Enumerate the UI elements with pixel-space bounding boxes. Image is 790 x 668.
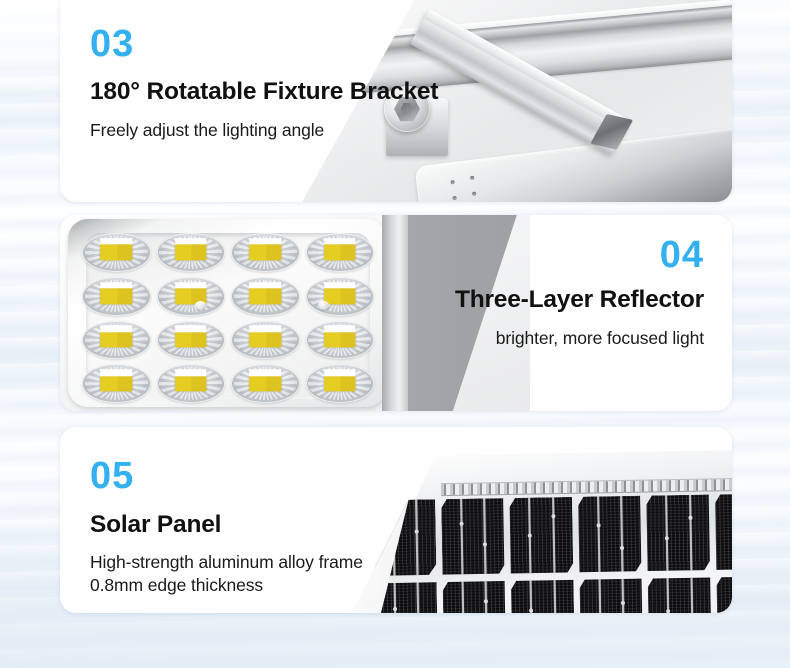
led-lens <box>82 364 151 403</box>
bracket-base-plate <box>414 127 732 202</box>
feature-number-03: 03 <box>90 25 134 63</box>
feature-title-03: 180° Rotatable Fixture Bracket <box>90 78 438 105</box>
feature-number-05: 05 <box>90 457 134 495</box>
feature-card-04: 04 Three-Layer Reflector brighter, more … <box>60 215 732 411</box>
feature-card-05: 05 Solar Panel High-strength aluminum al… <box>60 427 732 613</box>
housing-screw <box>318 301 329 310</box>
solar-cell <box>443 581 507 613</box>
led-lens <box>306 364 375 403</box>
feature-subtitle-03: Freely adjust the lighting angle <box>90 119 324 142</box>
feature-number-04: 04 <box>660 236 704 274</box>
led-lens <box>82 277 151 316</box>
solar-cell-grid <box>373 493 732 613</box>
feature-title-04: Three-Layer Reflector <box>455 286 704 313</box>
led-lens <box>157 321 226 360</box>
led-lens <box>231 364 300 403</box>
led-lens <box>157 277 226 316</box>
feature-subtitle-05: High-strength aluminum alloy frame 0.8mm… <box>90 551 363 597</box>
led-lens <box>157 233 226 272</box>
solar-cell <box>510 497 574 574</box>
led-lens <box>82 321 151 360</box>
led-lens <box>82 233 151 272</box>
led-lens <box>306 277 375 316</box>
solar-cell <box>646 494 710 571</box>
led-grid <box>82 233 374 403</box>
feature-card-03: 03 180° Rotatable Fixture Bracket Freely… <box>60 0 732 202</box>
solar-cell <box>715 493 732 570</box>
led-lens <box>306 233 375 272</box>
solar-panel-module <box>348 449 732 613</box>
led-lens <box>231 321 300 360</box>
led-lens <box>157 364 226 403</box>
feature-infographic-page: 03 180° Rotatable Fixture Bracket Freely… <box>0 0 790 668</box>
solar-cell <box>511 579 575 613</box>
housing-screw <box>195 301 206 310</box>
feature-title-05: Solar Panel <box>90 511 221 538</box>
led-lens <box>231 233 300 272</box>
solar-cell <box>578 496 642 573</box>
led-lens <box>306 321 375 360</box>
led-lens <box>231 277 300 316</box>
feature-subtitle-05-line-2: 0.8mm edge thickness <box>90 574 363 597</box>
feature-subtitle-05-line-1: High-strength aluminum alloy frame <box>90 551 363 574</box>
solar-cell <box>579 578 643 613</box>
solar-cell <box>441 498 505 575</box>
solar-cell <box>648 577 712 613</box>
solar-panel-photo <box>344 427 732 613</box>
solar-cell <box>716 576 732 613</box>
floodlight-head-housing <box>68 219 386 407</box>
feature-subtitle-04: brighter, more focused light <box>496 327 704 350</box>
